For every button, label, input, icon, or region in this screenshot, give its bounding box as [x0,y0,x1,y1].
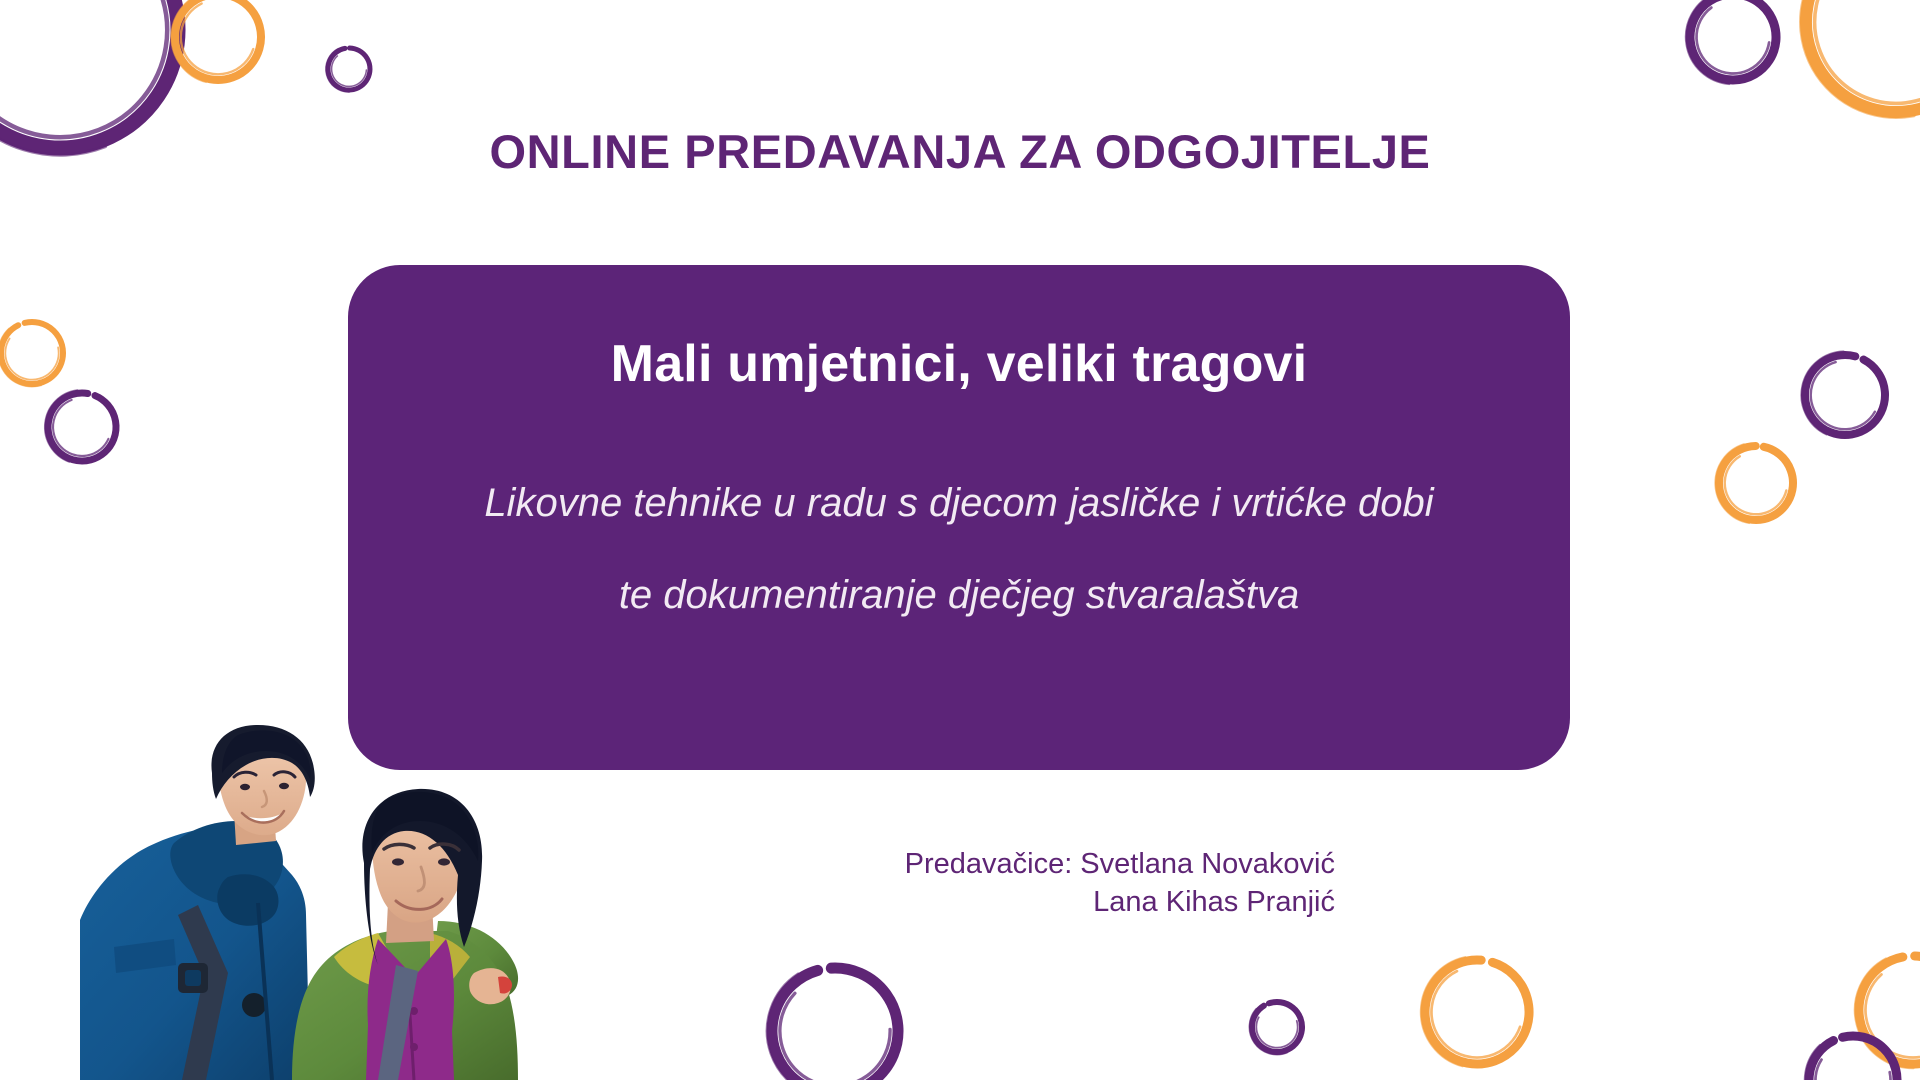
ring-bottom-orange-large-outer-stroke [1421,957,1465,1066]
presenters-photo [78,725,578,1080]
ring-left-orange-small [1,322,63,384]
ring-bottom-right-purple [1809,1036,1897,1080]
ring-bottom-purple-small-outer-stroke [1249,1009,1287,1055]
ring-top-purple-small-inner-stroke [332,56,367,86]
ring-left-purple-small [48,393,116,461]
ring-bottom-purple-large-inner-stroke [780,993,890,1080]
card-subtitle-line-1: Likovne tehnike u radu s djecom jasličke… [406,483,1512,523]
ring-right-orange-medium-inner-stroke [1725,456,1787,514]
ring-top-purple-small [328,48,370,90]
presenter-line-2: Lana Kihas Pranjić [815,883,1335,921]
ring-top-right-orange-large-outer-stroke [1800,0,1914,118]
ring-bottom-orange-large-inner-stroke [1431,971,1520,1057]
ring-left-orange-small-inner-stroke [5,338,58,379]
ring-right-purple-medium-inner-stroke [1811,362,1875,429]
ring-top-left-large-purple-inner-stroke [0,0,167,137]
ring-top-orange-medium-outer-stroke [171,0,208,82]
ring-bottom-purple-small [1252,1002,1302,1052]
ring-top-right-purple-outer-stroke [1686,0,1729,84]
ring-top-right-purple-inner-stroke [1696,8,1769,74]
ring-bottom-right-orange-outer-stroke [1855,958,1914,1068]
ring-left-orange-small-outer-stroke [0,328,41,386]
ring-top-orange-medium [175,0,261,80]
ring-bottom-right-orange-inner-stroke [1865,974,1920,1057]
card-heading: Mali umjetnici, veliki tragovi [406,319,1512,395]
ring-right-orange-medium-outer-stroke [1715,444,1749,523]
ring-bottom-purple-large-outer-stroke [767,974,842,1080]
ring-top-right-orange-large-inner-stroke [1815,0,1920,103]
ring-left-purple-small-outer-stroke [45,390,78,462]
presenters-block: Predavačice: Svetlana Novaković Lana Kih… [815,845,1335,922]
presentation-slide: ONLINE PREDAVANJA ZA ODGOJITELJE Mali um… [0,0,1920,1080]
ring-top-orange-medium-inner-stroke [181,4,253,75]
ring-top-right-purple [1690,0,1776,80]
ring-bottom-right-orange [1859,956,1920,1064]
presenter-line-1: Predavačice: Svetlana Novaković [815,845,1335,883]
ring-bottom-right-purple-outer-stroke [1805,1045,1866,1080]
ring-top-purple-small-outer-stroke [326,48,350,92]
ring-top-right-orange-large [1806,0,1920,112]
ring-right-orange-medium [1719,446,1793,520]
ring-right-purple-medium [1805,355,1885,435]
ring-right-purple-medium-outer-stroke [1801,351,1843,434]
ring-left-purple-small-inner-stroke [53,400,108,456]
ring-bottom-purple-small-inner-stroke [1256,1017,1297,1047]
ring-bottom-purple-large [772,968,898,1080]
ring-bottom-orange-large [1425,960,1529,1064]
card-subtitle-line-2: te dokumentiranje dječjeg stvaralaštva [406,575,1512,615]
content-card: Mali umjetnici, veliki tragovi Likovne t… [348,265,1570,770]
ring-bottom-right-purple-inner-stroke [1815,1060,1890,1080]
slide-title: ONLINE PREDAVANJA ZA ODGOJITELJE [0,124,1920,179]
